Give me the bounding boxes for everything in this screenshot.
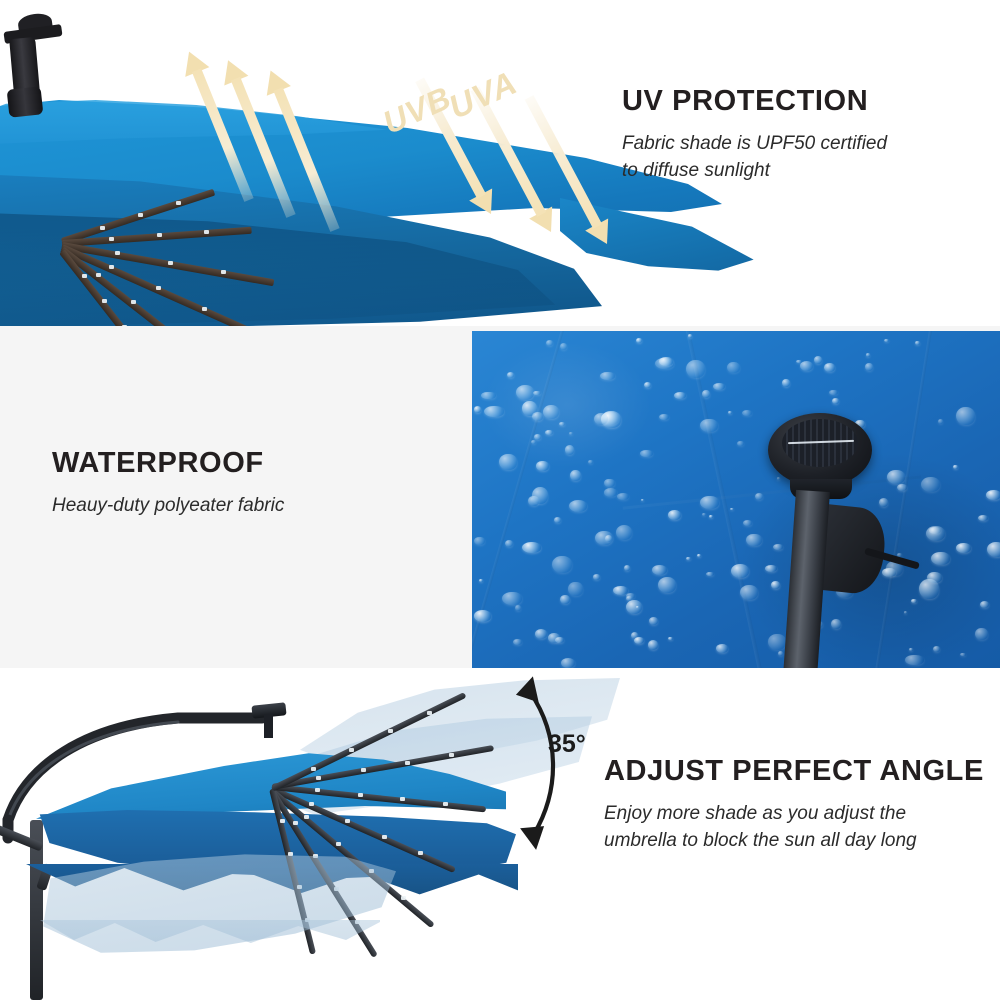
water-droplet bbox=[709, 515, 713, 519]
fabric-fold-4 bbox=[623, 475, 922, 509]
water-droplet bbox=[702, 513, 705, 516]
uv-protection-description-line-2: to diffuse sunlight bbox=[622, 158, 972, 185]
led-light bbox=[349, 748, 354, 752]
water-droplet bbox=[515, 605, 520, 611]
water-droplet bbox=[938, 419, 943, 424]
water-droplet bbox=[554, 517, 561, 523]
led-light bbox=[221, 270, 226, 274]
water-droplet bbox=[516, 385, 534, 400]
water-droplet bbox=[605, 535, 612, 542]
adjust-angle-description-line-1: Enjoy more shade as you adjust the bbox=[604, 801, 984, 828]
led-light bbox=[418, 851, 423, 855]
water-droplet bbox=[865, 363, 873, 371]
water-droplet bbox=[978, 515, 988, 521]
led-light bbox=[100, 226, 105, 230]
water-droplet bbox=[636, 338, 642, 343]
led-light bbox=[388, 729, 393, 733]
water-droplet bbox=[588, 460, 593, 464]
water-droplet bbox=[921, 477, 940, 492]
water-droplet bbox=[593, 574, 601, 580]
panel-adjust-angle: 35° ADJUST PERFECT ANGLE Enjoy more shad… bbox=[0, 668, 1000, 1000]
water-droplet bbox=[904, 611, 907, 614]
water-droplet bbox=[668, 637, 672, 640]
solar-panel-stem bbox=[264, 714, 273, 738]
water-droplet bbox=[887, 470, 905, 484]
adjust-angle-title: ADJUST PERFECT ANGLE bbox=[604, 756, 984, 788]
water-droplet bbox=[831, 619, 841, 629]
water-droplet bbox=[502, 592, 522, 605]
led-light bbox=[382, 835, 387, 839]
water-droplet bbox=[737, 441, 744, 446]
waterproof-photo bbox=[472, 331, 1000, 668]
water-droplet bbox=[768, 634, 785, 650]
water-droplet bbox=[728, 411, 732, 415]
led-light bbox=[96, 273, 101, 277]
water-droplet bbox=[649, 617, 658, 624]
water-droplet bbox=[499, 454, 517, 470]
led-light bbox=[168, 261, 173, 265]
water-droplet bbox=[569, 500, 588, 512]
water-droplet bbox=[568, 582, 583, 597]
water-droplet bbox=[956, 543, 971, 554]
water-droplet bbox=[755, 493, 763, 500]
water-droplet bbox=[909, 648, 913, 652]
led-light bbox=[138, 213, 143, 217]
water-droplet bbox=[533, 391, 541, 396]
led-light bbox=[202, 307, 207, 311]
water-droplet bbox=[545, 430, 553, 435]
water-droplet bbox=[700, 419, 717, 432]
water-droplet bbox=[543, 405, 559, 419]
water-droplet bbox=[742, 410, 751, 416]
waterproof-description: Heauy-duty polyeater fabric bbox=[52, 493, 432, 520]
adjust-angle-text-block: ADJUST PERFECT ANGLE Enjoy more shade as… bbox=[604, 756, 984, 855]
water-droplet bbox=[702, 390, 710, 398]
water-droplet bbox=[536, 461, 548, 471]
water-droplet bbox=[987, 542, 1000, 557]
water-droplet bbox=[960, 653, 966, 656]
water-droplet bbox=[617, 493, 628, 500]
water-droplet bbox=[897, 484, 907, 491]
water-droplet bbox=[697, 554, 702, 557]
uv-protection-description-line-1: Fabric shade is UPF50 certified bbox=[622, 131, 972, 158]
water-droplet bbox=[879, 498, 889, 507]
water-droplet bbox=[686, 360, 705, 378]
water-droplet bbox=[513, 639, 522, 646]
water-droplet bbox=[933, 646, 940, 652]
water-droplet bbox=[980, 601, 989, 607]
water-droplet bbox=[484, 406, 504, 417]
water-droplet bbox=[953, 465, 958, 469]
water-droplet bbox=[716, 644, 727, 653]
water-droplet bbox=[641, 499, 644, 501]
panel-uv-protection: UVB UVA UV PROTECTION Fabric shade is UP… bbox=[0, 0, 1000, 326]
led-light bbox=[280, 819, 285, 823]
water-droplet bbox=[674, 392, 686, 399]
led-light bbox=[157, 233, 162, 237]
led-light bbox=[293, 821, 298, 825]
water-droplet bbox=[700, 496, 719, 510]
led-light bbox=[288, 852, 293, 856]
panel-waterproof: WATERPROOF Heauy-duty polyeater fabric bbox=[0, 326, 1000, 668]
uv-protection-text-block: UV PROTECTION Fabric shade is UPF50 cert… bbox=[622, 86, 972, 185]
water-droplet bbox=[778, 651, 783, 656]
water-droplet bbox=[765, 565, 776, 571]
water-droplet bbox=[975, 628, 988, 640]
water-droplet bbox=[706, 572, 714, 576]
water-droplet bbox=[688, 334, 693, 338]
water-droplet bbox=[634, 637, 644, 643]
water-droplet bbox=[624, 565, 630, 571]
water-droplet bbox=[713, 383, 725, 390]
led-light bbox=[427, 711, 432, 715]
led-light bbox=[156, 286, 161, 290]
water-droplet bbox=[659, 414, 668, 420]
adjust-angle-description: Enjoy more shade as you adjust the umbre… bbox=[604, 801, 984, 855]
water-droplet bbox=[658, 577, 676, 593]
water-droplet bbox=[814, 356, 822, 363]
led-light bbox=[176, 201, 181, 205]
water-droplet bbox=[866, 353, 871, 357]
water-droplet bbox=[481, 392, 495, 400]
led-light bbox=[109, 265, 114, 269]
water-droplet bbox=[911, 599, 916, 602]
uv-protection-description: Fabric shade is UPF50 certified to diffu… bbox=[622, 131, 972, 185]
water-droplet bbox=[931, 552, 950, 565]
led-light bbox=[204, 230, 209, 234]
led-light bbox=[102, 299, 107, 303]
led-light bbox=[309, 802, 314, 806]
water-droplet bbox=[560, 343, 567, 350]
water-droplet bbox=[522, 542, 542, 553]
uv-protection-title: UV PROTECTION bbox=[622, 86, 972, 118]
led-light bbox=[316, 776, 321, 780]
water-droplet bbox=[548, 633, 560, 643]
water-droplet bbox=[604, 479, 614, 488]
umbrella-hub-knuckle bbox=[7, 86, 44, 117]
water-droplet bbox=[570, 470, 581, 481]
water-droplet bbox=[668, 510, 681, 520]
adjust-angle-description-line-2: umbrella to block the sun all day long bbox=[604, 828, 984, 855]
water-droplet bbox=[594, 413, 608, 425]
water-droplet bbox=[927, 572, 942, 583]
led-light bbox=[358, 793, 363, 797]
water-droplet bbox=[884, 339, 889, 342]
led-light bbox=[361, 768, 366, 772]
water-droplet bbox=[474, 537, 485, 546]
water-droplet bbox=[522, 401, 536, 415]
uv-ray-arrows bbox=[222, 34, 642, 264]
water-droplet bbox=[915, 341, 920, 346]
led-light bbox=[82, 274, 87, 278]
water-droplet bbox=[740, 585, 758, 600]
water-droplet bbox=[479, 579, 484, 582]
led-light bbox=[345, 819, 350, 823]
led-light bbox=[449, 753, 454, 757]
led-light bbox=[115, 251, 120, 255]
water-droplet bbox=[565, 445, 575, 454]
led-light bbox=[109, 237, 114, 241]
water-droplet bbox=[640, 450, 652, 457]
led-light bbox=[315, 788, 320, 792]
water-droplet bbox=[777, 477, 780, 479]
water-droplet bbox=[824, 363, 835, 372]
water-droplet bbox=[730, 508, 734, 511]
water-droplet bbox=[743, 520, 751, 526]
water-droplet bbox=[727, 362, 740, 373]
water-droplet bbox=[746, 534, 762, 547]
infographic-page: UVB UVA UV PROTECTION Fabric shade is UP… bbox=[0, 0, 1000, 1000]
umbrella-pole bbox=[783, 490, 829, 668]
water-droplet bbox=[644, 382, 651, 388]
water-droplet bbox=[686, 557, 691, 560]
water-droplet bbox=[832, 398, 839, 404]
water-droplet bbox=[546, 340, 553, 346]
water-droplet bbox=[474, 610, 492, 621]
led-light bbox=[304, 815, 309, 819]
water-droplet bbox=[505, 540, 513, 547]
water-droplet bbox=[773, 544, 783, 550]
water-droplet bbox=[800, 361, 813, 370]
water-droplet bbox=[926, 526, 946, 541]
water-droplet bbox=[552, 556, 572, 573]
angle-degree-label: 35° bbox=[548, 730, 586, 759]
water-droplet bbox=[986, 490, 1000, 501]
led-light bbox=[405, 761, 410, 765]
led-light bbox=[336, 842, 341, 846]
angle-arc-arrow bbox=[498, 668, 608, 856]
water-droplet bbox=[652, 565, 668, 575]
led-light bbox=[443, 802, 448, 806]
led-light bbox=[131, 300, 136, 304]
led-light bbox=[311, 767, 316, 771]
water-droplet bbox=[531, 440, 537, 444]
water-droplet bbox=[534, 434, 540, 440]
water-droplet bbox=[731, 564, 749, 578]
water-droplet bbox=[559, 422, 565, 426]
water-droplet bbox=[782, 379, 790, 387]
water-droplet bbox=[600, 372, 615, 380]
water-droplet bbox=[655, 358, 674, 369]
water-droplet bbox=[560, 595, 570, 604]
water-droplet bbox=[626, 600, 643, 614]
water-droplet bbox=[829, 390, 838, 395]
water-droplet bbox=[474, 406, 482, 412]
water-droplet bbox=[535, 629, 547, 638]
water-droplet bbox=[507, 372, 514, 378]
water-droplet bbox=[956, 407, 975, 425]
water-droplet bbox=[532, 487, 548, 504]
waterproof-title: WATERPROOF bbox=[52, 448, 432, 480]
water-droplet bbox=[648, 640, 659, 650]
water-droplet bbox=[905, 655, 924, 666]
water-droplet bbox=[616, 525, 632, 540]
water-droplet bbox=[561, 658, 575, 668]
waterproof-text-block: WATERPROOF Heauy-duty polyeater fabric bbox=[52, 448, 432, 520]
water-droplet bbox=[604, 488, 617, 496]
led-light bbox=[401, 896, 406, 900]
water-droplet bbox=[771, 581, 780, 589]
water-droplet bbox=[569, 432, 573, 435]
